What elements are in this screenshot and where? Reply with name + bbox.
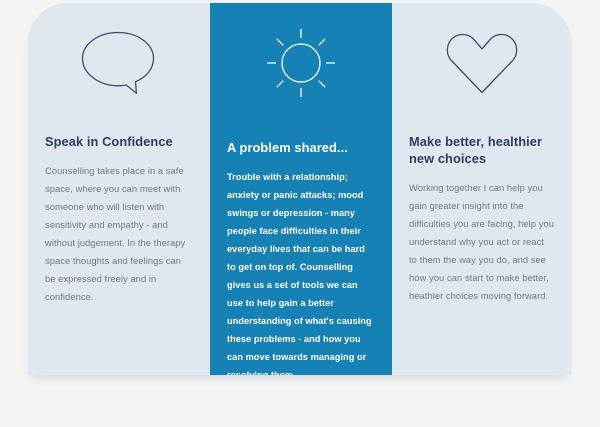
- sun-icon: [227, 3, 375, 123]
- feature-column-make-better-healthier-new-choices: Make better, healthier new choices Worki…: [392, 3, 571, 375]
- feature-column-speak-in-confidence: Speak in Confidence Counselling takes pl…: [28, 3, 210, 375]
- feature-column-a-problem-shared: A problem shared... Trouble with a relat…: [210, 3, 392, 375]
- feature-title: Speak in Confidence: [45, 133, 193, 150]
- feature-body-text: Trouble with a relationship; anxiety or …: [227, 168, 375, 375]
- feature-cards-container: Speak in Confidence Counselling takes pl…: [28, 3, 571, 375]
- feature-body-text: Working together I can help you gain gre…: [409, 179, 554, 305]
- speech-bubble-icon: [45, 3, 193, 123]
- feature-title: A problem shared...: [227, 139, 375, 156]
- feature-title: Make better, healthier new choices: [409, 133, 554, 167]
- feature-text-block: Make better, healthier new choices Worki…: [409, 123, 554, 305]
- feature-body-text: Counselling takes place in a safe space,…: [45, 162, 193, 306]
- feature-text-block: A problem shared... Trouble with a relat…: [227, 123, 375, 375]
- feature-text-block: Speak in Confidence Counselling takes pl…: [45, 123, 193, 306]
- heart-icon: [409, 3, 554, 123]
